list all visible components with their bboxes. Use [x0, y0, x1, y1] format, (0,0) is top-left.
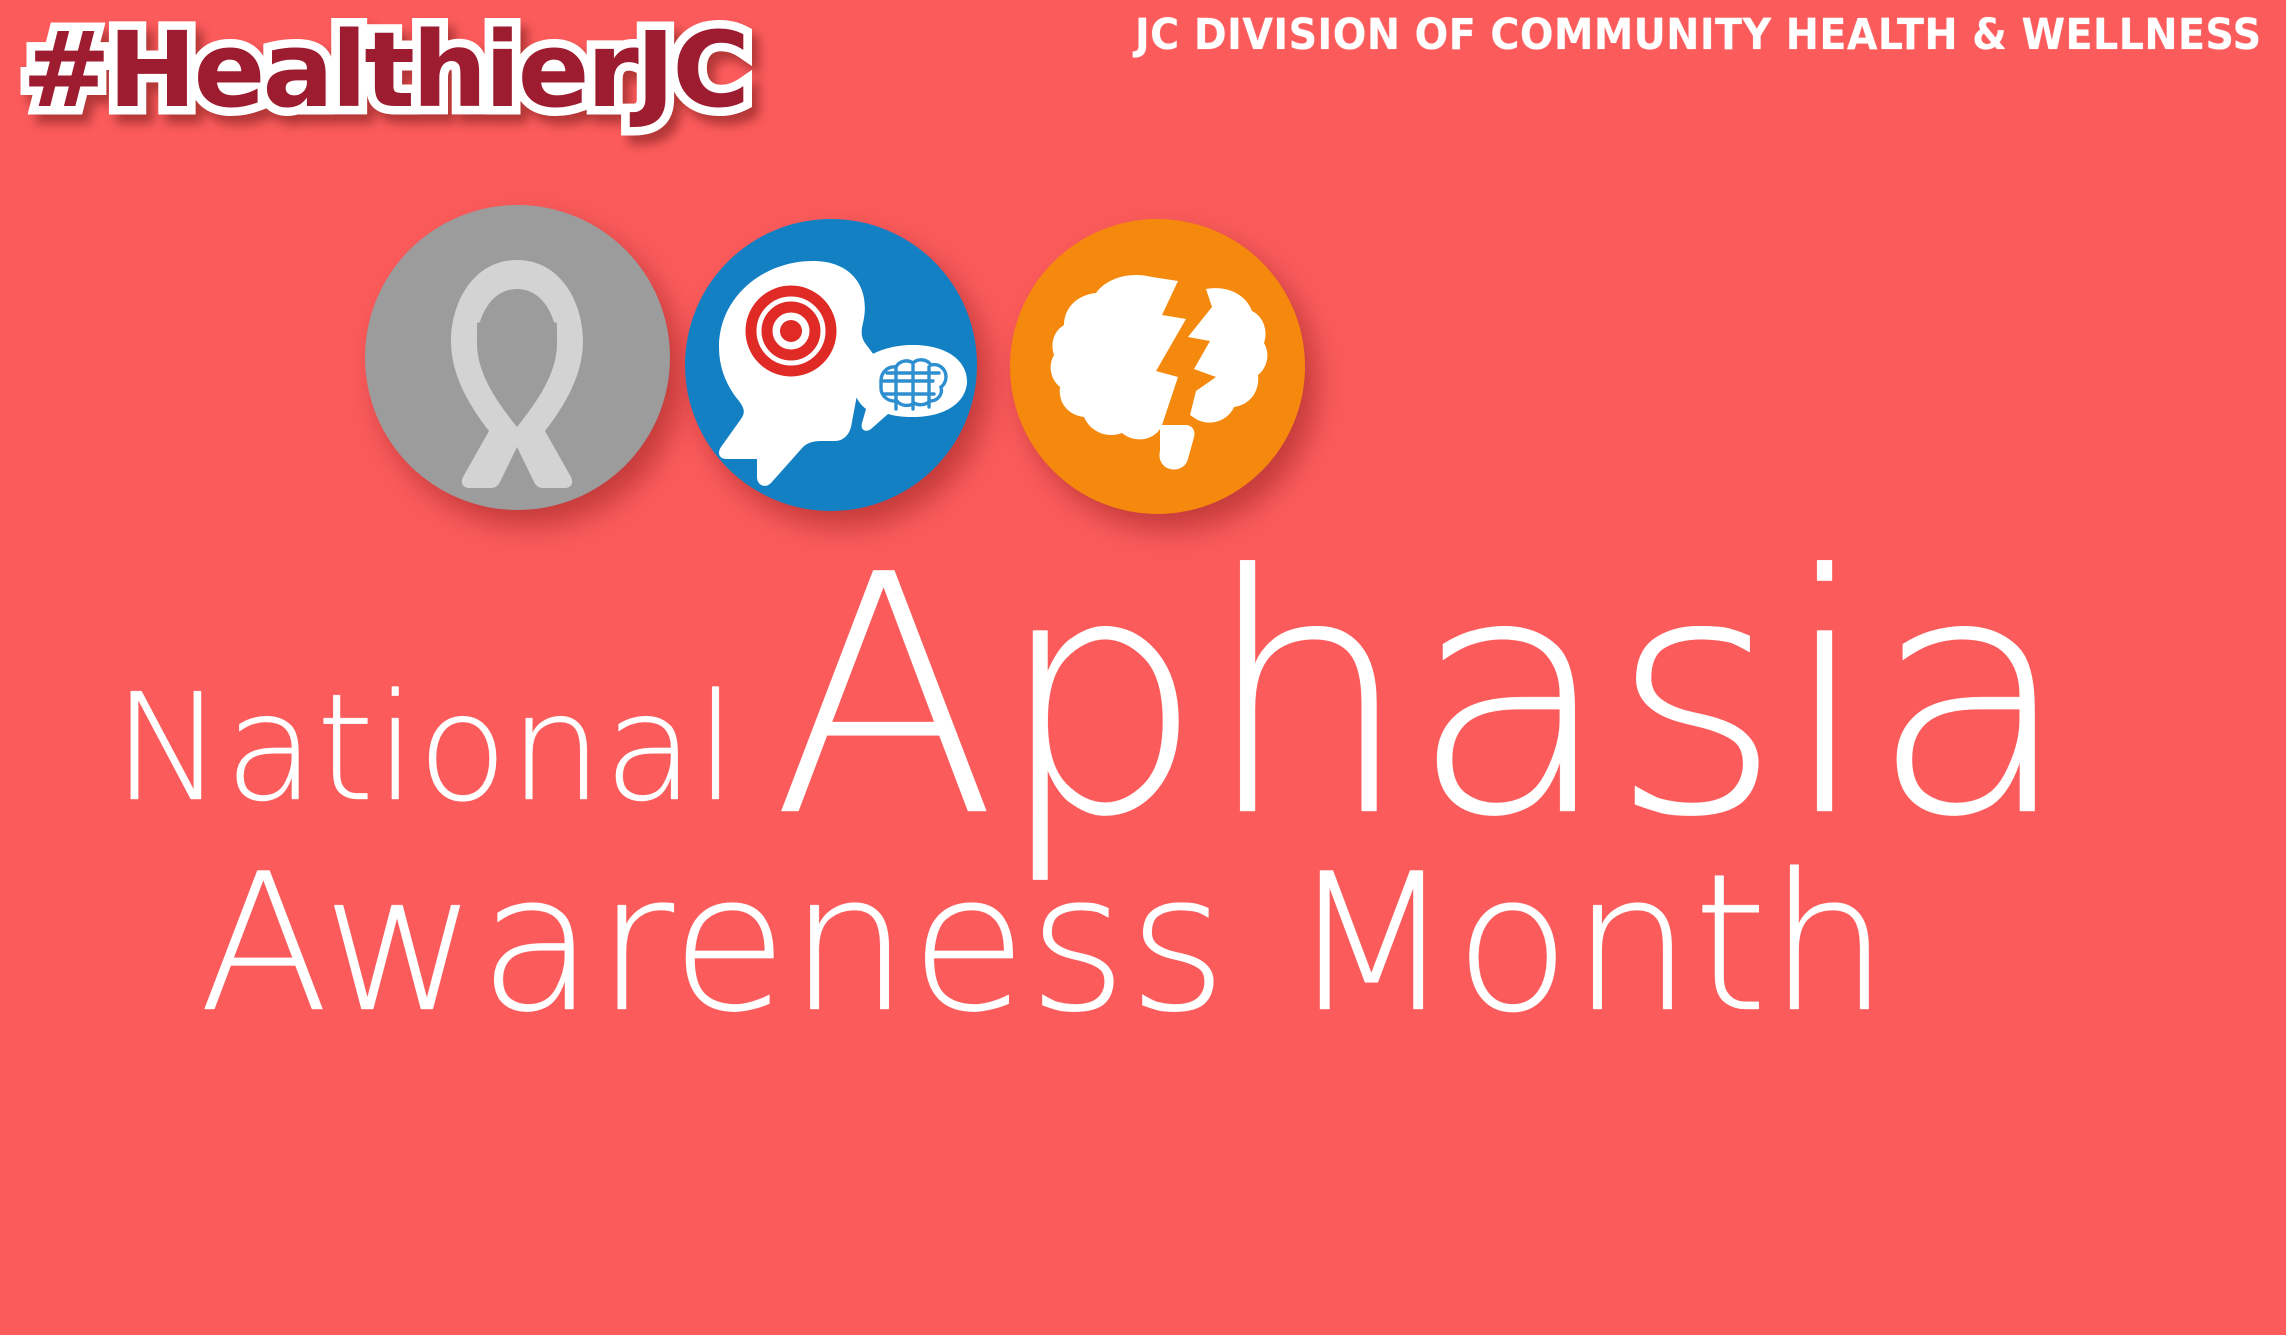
healthierjc-logo: #HealthierJC [22, 18, 747, 122]
headline-block: NationalAphasia Awareness Month [0, 505, 2286, 1305]
headline-word-aphasia: Aphasia [772, 505, 2070, 889]
awareness-ribbon-icon [365, 205, 670, 510]
headline-line-1: NationalAphasia [0, 505, 2070, 889]
headline-word-national: National [113, 662, 738, 834]
poster-canvas: #HealthierJC JC DIVISION OF COMMUNITY HE… [0, 0, 2286, 1335]
icon-row [0, 205, 2286, 525]
head-speech-icon [685, 219, 977, 511]
organization-title: JC DIVISION OF COMMUNITY HEALTH & WELLNE… [1135, 10, 2262, 60]
headline-line-2: Awareness Month [0, 833, 1890, 1054]
broken-brain-icon [1010, 219, 1305, 514]
